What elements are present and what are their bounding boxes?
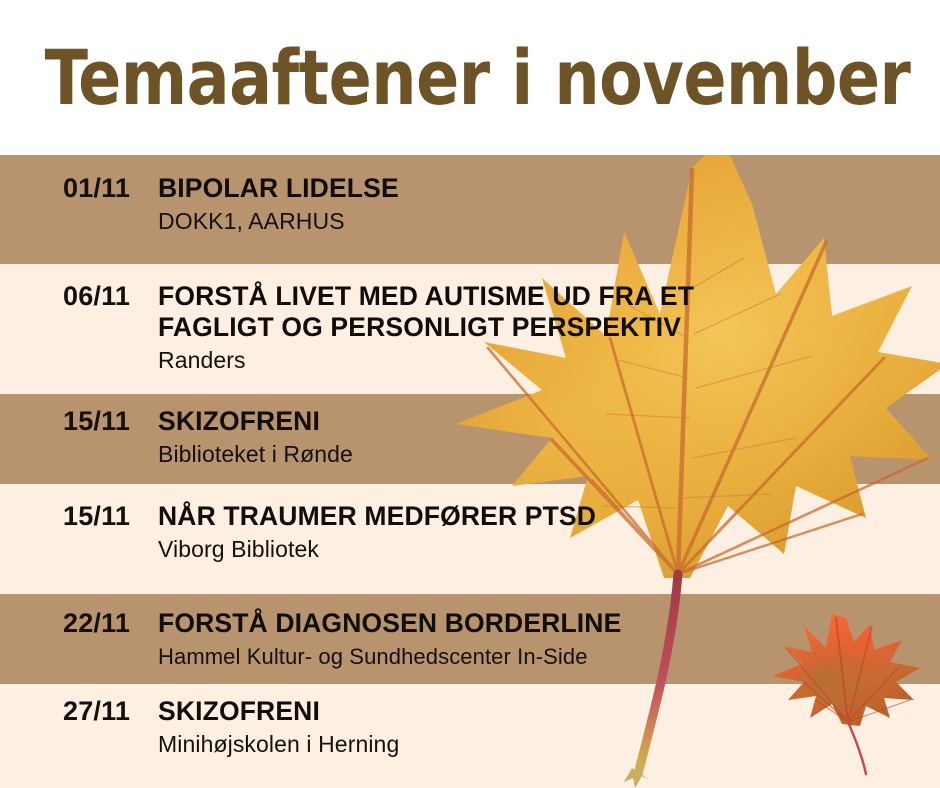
event-row[interactable]: 27/11 SKIZOFRENI Minihøjskolen i Herning xyxy=(0,696,940,759)
event-date: 22/11 xyxy=(0,608,158,638)
event-poster: Temaaftener i november 01/11 BIPOLAR LID… xyxy=(0,0,940,788)
event-venue: Randers xyxy=(158,346,924,375)
event-list: 01/11 BIPOLAR LIDELSE DOKK1, AARHUS 06/1… xyxy=(0,0,940,788)
event-row[interactable]: 01/11 BIPOLAR LIDELSE DOKK1, AARHUS xyxy=(0,173,940,236)
event-date: 15/11 xyxy=(0,406,158,436)
event-date: 27/11 xyxy=(0,696,158,726)
event-details: SKIZOFRENI Biblioteket i Rønde xyxy=(158,406,940,469)
event-venue: Hammel Kultur- og Sundhedscenter In-Side xyxy=(158,642,924,671)
event-date: 06/11 xyxy=(0,281,158,311)
event-venue: Minihøjskolen i Herning xyxy=(158,730,924,759)
event-title: FORSTÅ DIAGNOSEN BORDERLINE xyxy=(158,608,748,639)
event-row[interactable]: 22/11 FORSTÅ DIAGNOSEN BORDERLINE Hammel… xyxy=(0,608,940,671)
event-venue: Biblioteket i Rønde xyxy=(158,440,924,469)
event-details: NÅR TRAUMER MEDFØRER PTSD Viborg Bibliot… xyxy=(158,501,940,564)
event-details: BIPOLAR LIDELSE DOKK1, AARHUS xyxy=(158,173,940,236)
event-row[interactable]: 15/11 NÅR TRAUMER MEDFØRER PTSD Viborg B… xyxy=(0,501,940,564)
event-row[interactable]: 15/11 SKIZOFRENI Biblioteket i Rønde xyxy=(0,406,940,469)
event-venue: Viborg Bibliotek xyxy=(158,535,924,564)
event-date: 15/11 xyxy=(0,501,158,531)
event-row[interactable]: 06/11 FORSTÅ LIVET MED AUTISME UD FRA ET… xyxy=(0,281,940,375)
event-details: SKIZOFRENI Minihøjskolen i Herning xyxy=(158,696,940,759)
event-title: SKIZOFRENI xyxy=(158,406,748,437)
event-title: NÅR TRAUMER MEDFØRER PTSD xyxy=(158,501,748,532)
event-title: FORSTÅ LIVET MED AUTISME UD FRA ET FAGLI… xyxy=(158,281,778,343)
event-title: SKIZOFRENI xyxy=(158,696,748,727)
event-details: FORSTÅ LIVET MED AUTISME UD FRA ET FAGLI… xyxy=(158,281,940,375)
event-title: BIPOLAR LIDELSE xyxy=(158,173,748,204)
event-date: 01/11 xyxy=(0,173,158,203)
event-details: FORSTÅ DIAGNOSEN BORDERLINE Hammel Kultu… xyxy=(158,608,940,671)
event-venue: DOKK1, AARHUS xyxy=(158,207,924,236)
